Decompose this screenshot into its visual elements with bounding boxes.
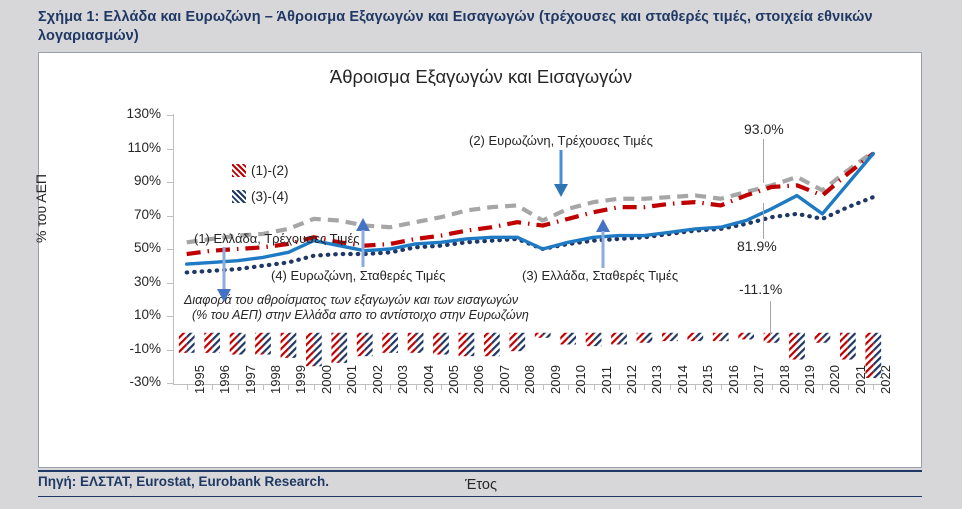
y-tick-label: 50% xyxy=(99,240,161,255)
x-tick xyxy=(873,384,874,390)
y-tick-label: 130% xyxy=(99,106,161,121)
difference-bar-red xyxy=(179,333,187,353)
difference-bar-navy xyxy=(365,333,373,356)
chart-title: Άθροισμα Εξαγωγών και Εισαγωγών xyxy=(39,66,923,88)
x-tick xyxy=(594,384,595,390)
x-tick xyxy=(517,384,518,390)
x-tick xyxy=(670,384,671,390)
annotation-greece-current: (1) Ελλάδα, Τρέχουσες Τιμές xyxy=(194,231,360,246)
difference-bar-red xyxy=(586,333,594,346)
x-tick xyxy=(848,384,849,390)
difference-bar-navy xyxy=(517,333,525,351)
x-tick xyxy=(314,384,315,390)
hatch-red-swatch-icon xyxy=(232,164,246,177)
difference-bar-navy xyxy=(441,333,449,355)
legend-item-3-4: (3)-(4) xyxy=(232,183,289,209)
y-tick xyxy=(167,216,174,217)
x-tick xyxy=(441,384,442,390)
source-rule-top xyxy=(38,470,922,472)
x-tick xyxy=(772,384,773,390)
x-tick xyxy=(212,384,213,390)
figure-caption: Σχήμα 1: Ελλάδα και Ευρωζώνη – Άθροισμα … xyxy=(38,8,926,46)
x-tick xyxy=(390,384,391,390)
difference-bar-red xyxy=(306,333,314,367)
difference-bar-navy xyxy=(390,333,398,353)
difference-bar-navy xyxy=(848,333,856,360)
legend-item-1-2: (1)-(2) xyxy=(232,157,289,183)
annotation-eurozone-constant: (4) Ευρωζώνη, Σταθερές Τιμές xyxy=(271,268,445,283)
hatch-navy-swatch-icon xyxy=(232,190,246,203)
difference-bar-navy xyxy=(339,333,347,363)
value-label-m111: -11.1% xyxy=(739,281,782,297)
x-tick xyxy=(263,384,264,390)
difference-bar-navy xyxy=(187,333,195,353)
difference-bar-red xyxy=(662,333,670,341)
annotation-note: Διαφορά του αθροίσματος των εξαγωγών και… xyxy=(184,293,529,323)
x-tick xyxy=(365,384,366,390)
x-tick xyxy=(797,384,798,390)
difference-bar-red xyxy=(230,333,238,355)
difference-bar-navy xyxy=(263,333,271,355)
x-tick xyxy=(288,384,289,390)
difference-bar-navy xyxy=(238,333,246,355)
y-tick-label: -30% xyxy=(99,374,161,389)
difference-bar-navy xyxy=(873,333,881,378)
difference-bar-red xyxy=(281,333,289,358)
difference-bar-red xyxy=(713,333,721,341)
difference-bar-red xyxy=(560,333,568,345)
difference-bar-navy xyxy=(721,333,729,341)
y-tick-label: -10% xyxy=(99,341,161,356)
x-tick xyxy=(644,384,645,390)
value-label-819: 81.9% xyxy=(737,238,777,254)
difference-bar-red xyxy=(738,333,746,340)
difference-bar-navy xyxy=(594,333,602,346)
difference-bar-red xyxy=(484,333,492,356)
difference-bar-navy xyxy=(568,333,576,345)
difference-bar-navy xyxy=(314,333,322,367)
difference-bar-red xyxy=(331,333,339,363)
y-tick-label: 90% xyxy=(99,173,161,188)
value-label-93: 93.0% xyxy=(744,121,784,137)
y-tick-label: 70% xyxy=(99,207,161,222)
difference-bar-red xyxy=(865,333,873,378)
difference-bar-navy xyxy=(670,333,678,341)
difference-bar-red xyxy=(357,333,365,356)
y-tick-label: 30% xyxy=(99,274,161,289)
y-tick-label: 10% xyxy=(99,307,161,322)
y-tick-label: 110% xyxy=(99,140,161,155)
series-line-2 xyxy=(187,152,874,242)
annotation-greece-constant: (3) Ελλάδα, Σταθερές Τιμές xyxy=(522,268,678,283)
difference-bar-navy xyxy=(543,333,551,338)
difference-bar-navy xyxy=(797,333,805,360)
source-note: Πηγή: ΕΛΣΤΑΤ, Eurostat, Eurobank Researc… xyxy=(38,474,922,489)
plot-area xyxy=(174,115,886,383)
difference-bar-red xyxy=(408,333,416,353)
x-tick xyxy=(619,384,620,390)
x-tick xyxy=(339,384,340,390)
legend-label-3-4: (3)-(4) xyxy=(251,189,289,204)
x-tick xyxy=(721,384,722,390)
difference-bar-navy xyxy=(644,333,652,343)
x-tick xyxy=(568,384,569,390)
difference-bar-red xyxy=(433,333,441,355)
difference-bar-red xyxy=(840,333,848,360)
y-tick xyxy=(167,115,174,116)
arrow-eurozone-constant-icon xyxy=(354,218,372,268)
difference-bar-navy xyxy=(619,333,627,345)
arrow-greece-current-icon xyxy=(215,247,233,303)
difference-bar-red xyxy=(459,333,467,356)
leader-line-m111 xyxy=(770,301,771,335)
source-rule-bottom xyxy=(38,496,922,497)
difference-bar-red xyxy=(611,333,619,345)
difference-bar-navy xyxy=(822,333,830,343)
y-axis-label: % του ΑΕΠ xyxy=(33,174,49,243)
difference-bar-navy xyxy=(695,333,703,341)
arrow-eurozone-current-icon xyxy=(552,150,570,198)
figure-page: Σχήμα 1: Ελλάδα και Ευρωζώνη – Άθροισμα … xyxy=(0,0,962,509)
difference-bar-red xyxy=(687,333,695,341)
x-tick xyxy=(416,384,417,390)
difference-bar-red xyxy=(637,333,645,343)
y-tick xyxy=(167,249,174,250)
difference-bar-red xyxy=(255,333,263,355)
difference-bar-navy xyxy=(212,333,220,353)
y-tick xyxy=(167,316,174,317)
x-tick xyxy=(466,384,467,390)
annotation-note-line2: (% του ΑΕΠ) στην Ελλάδα απο το αντίστοιχ… xyxy=(184,308,529,323)
y-tick xyxy=(167,350,174,351)
x-tick xyxy=(822,384,823,390)
y-tick xyxy=(167,149,174,150)
leader-line-819 xyxy=(763,203,764,239)
difference-bars xyxy=(179,333,881,378)
y-tick xyxy=(167,383,174,384)
annotation-note-line1: Διαφορά του αθροίσματος των εξαγωγών και… xyxy=(184,293,529,308)
difference-bar-red xyxy=(815,333,823,343)
difference-bar-navy xyxy=(492,333,500,356)
chart-legend: (1)-(2) (3)-(4) xyxy=(232,157,289,209)
difference-bar-navy xyxy=(416,333,424,353)
difference-bar-navy xyxy=(288,333,296,358)
x-tick xyxy=(695,384,696,390)
series-lines xyxy=(187,152,874,273)
difference-bar-red xyxy=(509,333,517,351)
legend-label-1-2: (1)-(2) xyxy=(251,163,289,178)
difference-bar-red xyxy=(204,333,212,353)
leader-line-93 xyxy=(763,139,764,183)
arrow-greece-constant-icon xyxy=(594,219,612,269)
x-tick xyxy=(543,384,544,390)
y-tick xyxy=(167,283,174,284)
difference-bar-navy xyxy=(772,333,780,343)
x-tick xyxy=(187,384,188,390)
chart-frame: Άθροισμα Εξαγωγών και Εισαγωγών % του ΑΕ… xyxy=(38,52,922,468)
difference-bar-red xyxy=(535,333,543,338)
x-tick xyxy=(492,384,493,390)
x-tick xyxy=(746,384,747,390)
y-tick xyxy=(167,182,174,183)
difference-bar-red xyxy=(789,333,797,360)
x-tick xyxy=(238,384,239,390)
difference-bar-red xyxy=(382,333,390,353)
difference-bar-navy xyxy=(466,333,474,356)
annotation-eurozone-current: (2) Ευρωζώνη, Τρέχουσες Τιμές xyxy=(469,133,653,148)
difference-bar-navy xyxy=(746,333,754,340)
